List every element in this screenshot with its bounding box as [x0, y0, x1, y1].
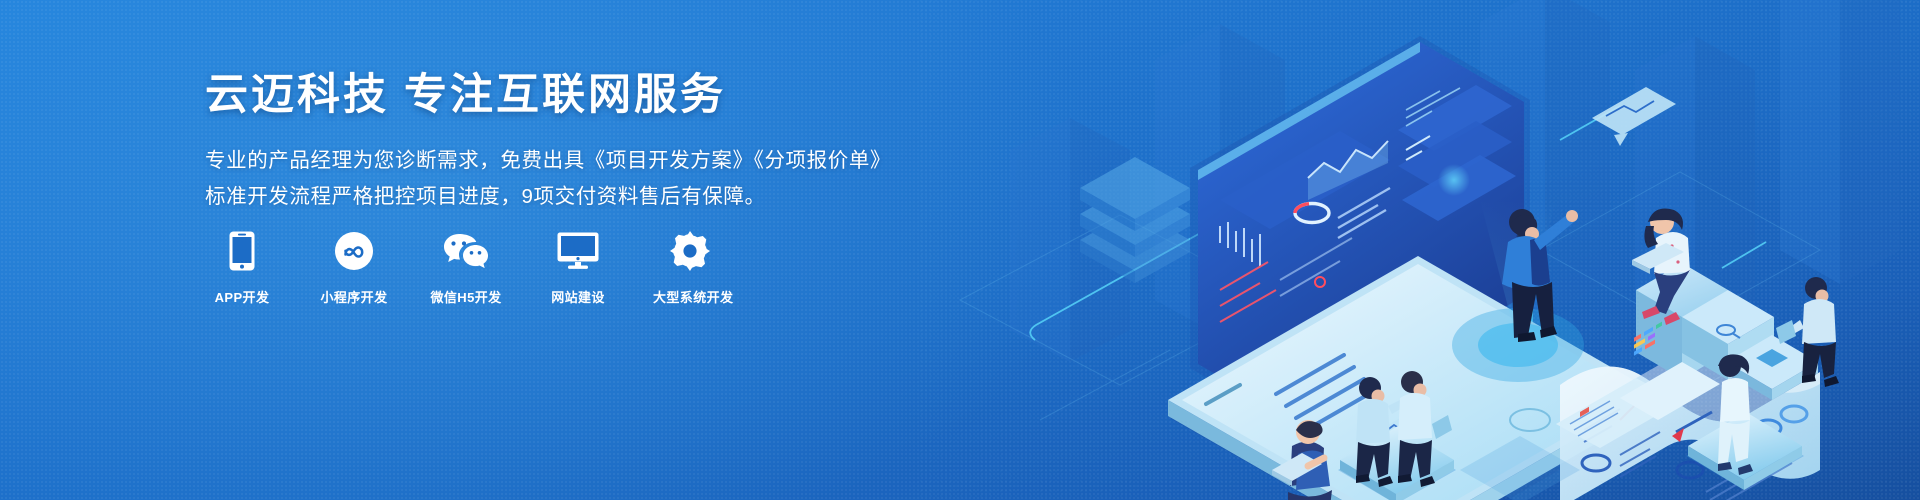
service-item-wechat-h5[interactable]: 微信H5开发: [429, 228, 503, 306]
service-label: 大型系统开发: [653, 287, 727, 306]
service-item-website[interactable]: 网站建设: [541, 228, 615, 306]
illustration-isometric-tech-scene: [920, 0, 1920, 500]
mobile-phone-icon: [205, 228, 279, 274]
subtitle-line-1: 专业的产品经理为您诊断需求，免费出具《项目开发方案》《分项报价单》: [205, 143, 905, 179]
gear-icon: [653, 228, 727, 274]
monitor-icon: [541, 228, 615, 274]
mini-program-icon: [317, 228, 391, 274]
page-title: 云迈科技 专注互联网服务: [205, 70, 905, 121]
service-label: APP开发: [205, 287, 279, 306]
promo-banner: 云迈科技 专注互联网服务 专业的产品经理为您诊断需求，免费出具《项目开发方案》《…: [0, 0, 1920, 500]
banner-subtitle: 专业的产品经理为您诊断需求，免费出具《项目开发方案》《分项报价单》 标准开发流程…: [205, 143, 905, 216]
service-list: APP开发 小程序开发 微信: [205, 228, 727, 306]
subtitle-line-2: 标准开发流程严格把控项目进度，9项交付资料售后有保障。: [205, 179, 905, 215]
service-item-large-system[interactable]: 大型系统开发: [653, 228, 727, 306]
service-label: 小程序开发: [317, 287, 391, 306]
wechat-icon: [429, 228, 503, 274]
banner-copy: 云迈科技 专注互联网服务 专业的产品经理为您诊断需求，免费出具《项目开发方案》《…: [205, 70, 905, 216]
service-item-mini-program[interactable]: 小程序开发: [317, 228, 391, 306]
service-label: 网站建设: [541, 287, 615, 306]
service-item-app-development[interactable]: APP开发: [205, 228, 279, 306]
service-label: 微信H5开发: [429, 287, 503, 306]
